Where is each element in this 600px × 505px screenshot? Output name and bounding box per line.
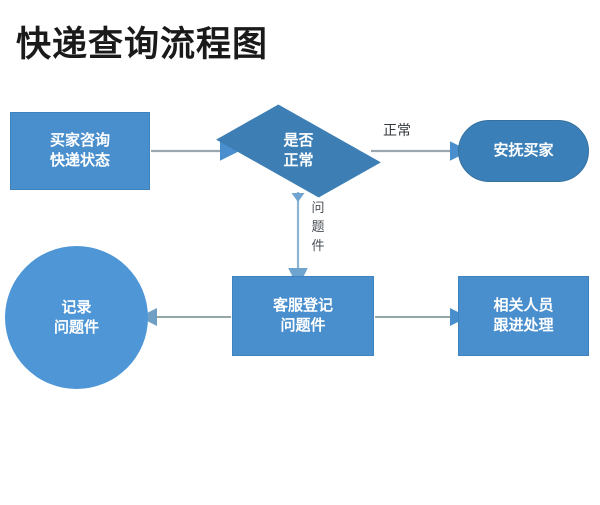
node-buyer-inquiry-line1: 买家咨询 bbox=[50, 131, 110, 151]
node-service-register-line1: 客服登记 bbox=[273, 296, 333, 316]
node-record-issue-line1: 记录 bbox=[61, 298, 91, 318]
edge-label-issue-char-1: 问 bbox=[310, 200, 326, 219]
node-decision-normal-label: 是否 正常 bbox=[226, 107, 371, 195]
edge-label-normal: 正常 bbox=[383, 120, 411, 140]
node-staff-followup-line1: 相关人员 bbox=[493, 296, 553, 316]
edge-label-issue-item: 问 题 件 bbox=[310, 200, 326, 257]
node-record-issue-line2: 问题件 bbox=[54, 318, 99, 338]
node-record-issue[interactable]: 记录 问题件 bbox=[5, 246, 148, 389]
node-staff-followup[interactable]: 相关人员 跟进处理 bbox=[458, 276, 589, 356]
node-buyer-inquiry[interactable]: 买家咨询 快递状态 bbox=[10, 112, 150, 190]
node-decision-normal[interactable]: 是否 正常 bbox=[226, 107, 371, 195]
edge-decision-to-register bbox=[292, 192, 305, 270]
node-decision-normal-line1: 是否 bbox=[283, 131, 313, 151]
flowchart-canvas: 快递查询流程图 bbox=[0, 0, 600, 505]
node-staff-followup-line2: 跟进处理 bbox=[493, 316, 553, 336]
node-buyer-inquiry-line2: 快递状态 bbox=[50, 151, 110, 171]
node-appease-buyer-line1: 安抚买家 bbox=[493, 141, 553, 161]
edge-label-issue-char-3: 件 bbox=[310, 238, 326, 257]
node-appease-buyer[interactable]: 安抚买家 bbox=[458, 120, 589, 182]
node-decision-normal-line2: 正常 bbox=[283, 151, 313, 171]
node-service-register[interactable]: 客服登记 问题件 bbox=[232, 276, 374, 356]
edge-label-issue-char-2: 题 bbox=[310, 219, 326, 238]
node-service-register-line2: 问题件 bbox=[280, 316, 325, 336]
